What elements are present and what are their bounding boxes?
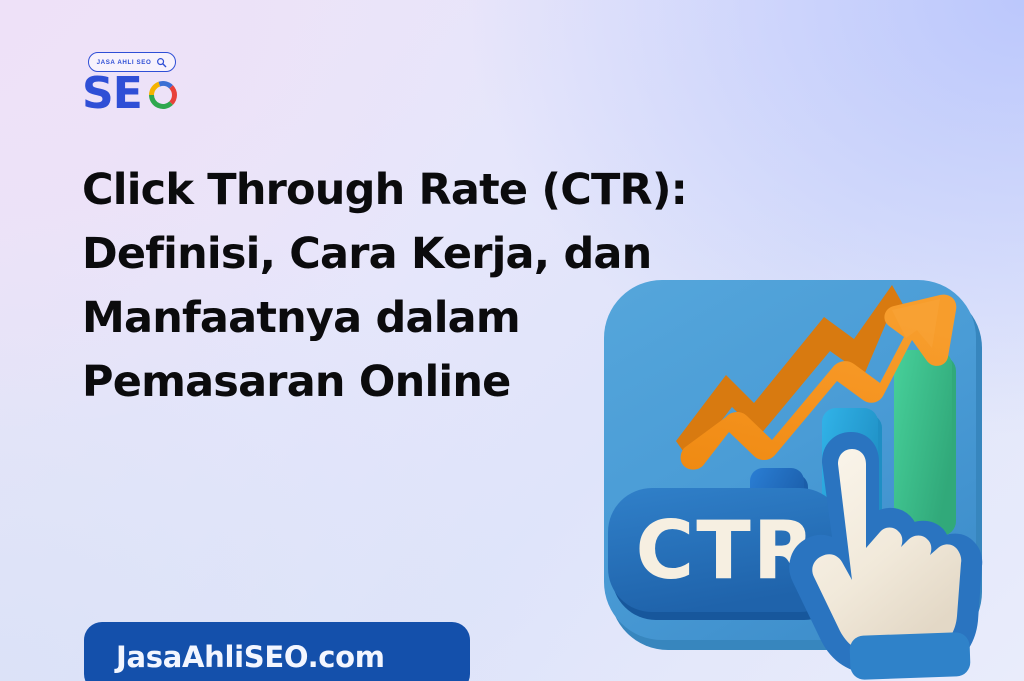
- poster-canvas: JASA AHLI SEO SE Click Through Rate (CTR…: [0, 0, 1024, 681]
- google-ring-o-icon: [143, 75, 183, 115]
- ctr-illustration-svg: CTR: [588, 248, 1024, 681]
- logo-wordmark-se: SE: [82, 72, 142, 116]
- brand-logo[interactable]: JASA AHLI SEO SE: [82, 52, 192, 118]
- cursor-cuff: [849, 632, 970, 680]
- site-url-label: JasaAhliSEO.com: [116, 640, 385, 674]
- site-url-banner[interactable]: JasaAhliSEO.com: [84, 622, 470, 681]
- ctr-badge-label: CTR: [636, 504, 817, 597]
- logo-badge-text: JASA AHLI SEO: [97, 59, 152, 66]
- headline-line-1: Click Through Rate (CTR):: [82, 158, 702, 222]
- magnifier-icon: [156, 57, 167, 68]
- ctr-3d-illustration: CTR: [588, 248, 1024, 681]
- bar-tall: [894, 350, 956, 536]
- logo-wordmark: SE: [82, 72, 183, 116]
